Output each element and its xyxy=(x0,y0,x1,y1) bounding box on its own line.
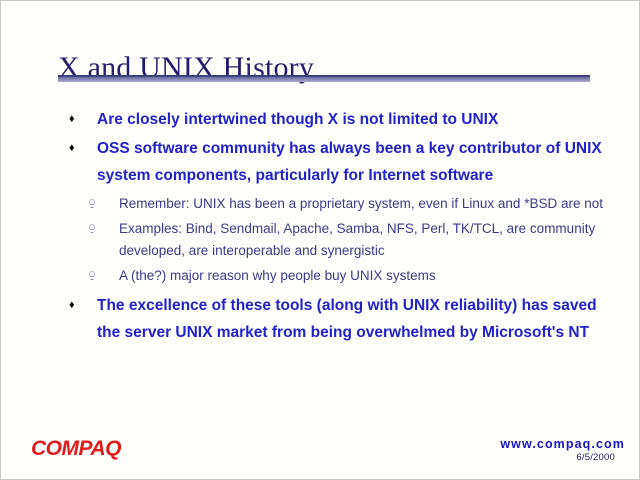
title-divider xyxy=(58,75,590,82)
bullet-text: Examples: Bind, Sendmail, Apache, Samba,… xyxy=(119,221,595,258)
footer-url: www.compaq.com xyxy=(500,437,625,451)
footer-date: 6/5/2000 xyxy=(500,452,615,463)
bullet-level2: ⍜ A (the?) major reason why people buy U… xyxy=(1,265,640,287)
diamond-bullet-icon: ♦ xyxy=(69,292,75,319)
bullet-text: Are closely intertwined though X is not … xyxy=(97,111,498,128)
bullet-level1: ♦ OSS software community has always been… xyxy=(1,135,640,189)
bullet-text: Remember: UNIX has been a proprietary sy… xyxy=(119,196,603,211)
diamond-bullet-icon: ♦ xyxy=(69,135,75,162)
slide: X and UNIX History ♦ Are closely intertw… xyxy=(0,0,640,480)
bullet-level1: ♦ The excellence of these tools (along w… xyxy=(1,292,640,346)
bullet-level2: ⍜ Remember: UNIX has been a proprietary … xyxy=(1,193,640,215)
slide-body: ♦ Are closely intertwined though X is no… xyxy=(1,106,640,348)
circle-bullet-icon: ⍜ xyxy=(89,218,95,240)
sub-bullet-group: ⍜ Remember: UNIX has been a proprietary … xyxy=(1,193,640,287)
bullet-text: A (the?) major reason why people buy UNI… xyxy=(119,268,436,283)
diamond-bullet-icon: ♦ xyxy=(69,106,75,133)
circle-bullet-icon: ⍜ xyxy=(89,193,95,215)
bullet-level1: ♦ Are closely intertwined though X is no… xyxy=(1,106,640,133)
footer: www.compaq.com 6/5/2000 xyxy=(500,437,625,463)
compaq-logo: COMPAQ xyxy=(31,437,121,461)
bullet-text: OSS software community has always been a… xyxy=(97,140,602,184)
bullet-level2: ⍜ Examples: Bind, Sendmail, Apache, Samb… xyxy=(1,218,640,262)
circle-bullet-icon: ⍜ xyxy=(89,265,95,287)
bullet-text: The excellence of these tools (along wit… xyxy=(97,297,597,341)
